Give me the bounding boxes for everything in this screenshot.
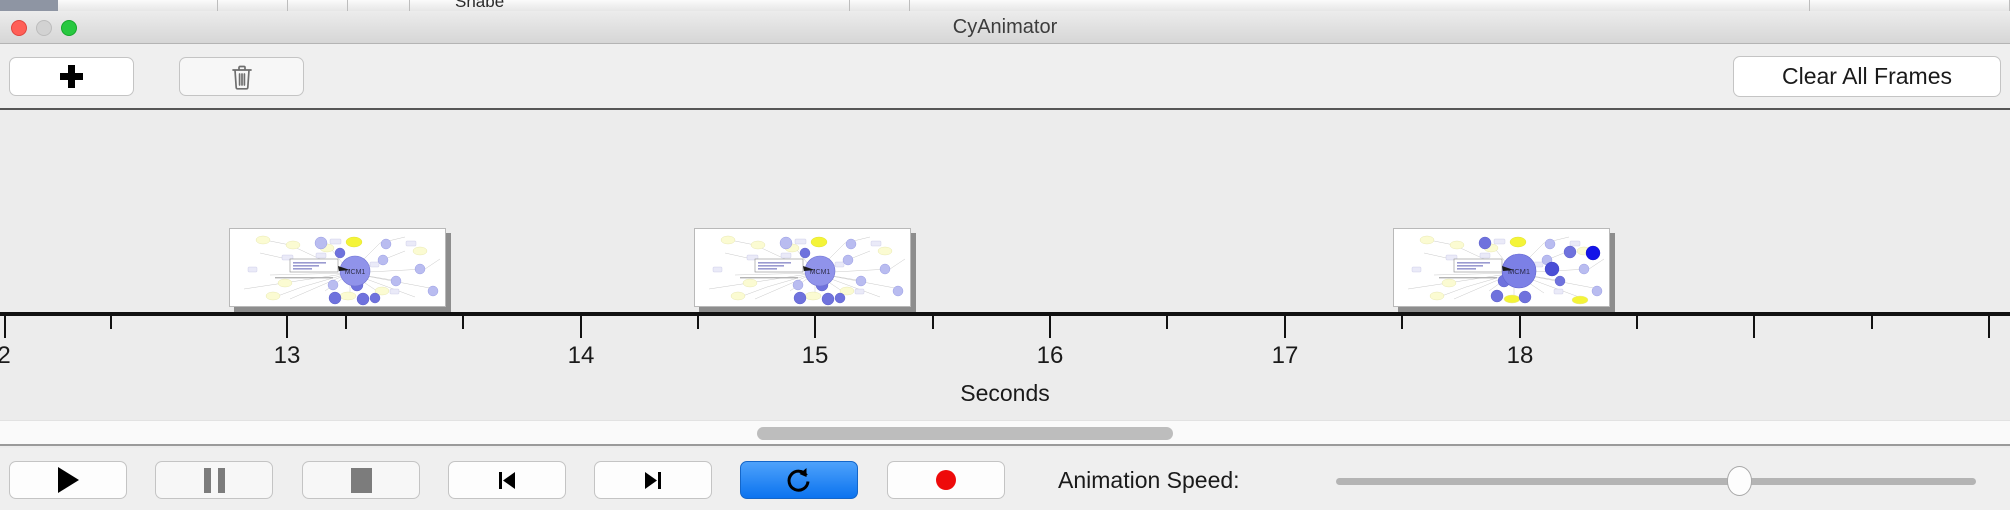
axis-tick-label: 14 — [568, 342, 595, 370]
axis-tick-minor — [1401, 316, 1403, 329]
plus-icon — [60, 65, 83, 88]
axis-title: Seconds — [0, 380, 2010, 407]
background-block — [348, 0, 410, 11]
skip-forward-icon — [640, 467, 666, 493]
title-bar: CyAnimator — [0, 11, 2010, 44]
background-block — [910, 0, 1810, 11]
stop-icon — [351, 468, 372, 493]
background-block — [58, 0, 218, 11]
axis-tick-label: 15 — [802, 342, 829, 370]
axis-tick-minor — [345, 316, 347, 329]
axis-tick-major — [4, 316, 6, 338]
axis-tick-major — [814, 316, 816, 338]
clear-all-frames-label: Clear All Frames — [1782, 63, 1952, 90]
timeline-axis: 2 13 14 15 16 17 18 Seconds — [0, 312, 2010, 420]
background-block — [1810, 0, 2010, 11]
toolbar: Clear All Frames — [0, 44, 2010, 110]
axis-tick-label: 13 — [274, 342, 301, 370]
axis-tick-major — [286, 316, 288, 338]
stop-button[interactable] — [302, 461, 420, 499]
animation-speed-slider-thumb[interactable] — [1727, 466, 1752, 496]
play-icon — [58, 467, 79, 493]
background-block — [218, 0, 288, 11]
skip-to-end-button[interactable] — [594, 461, 712, 499]
timeline-frame[interactable]: MCM1 — [694, 228, 916, 312]
loop-icon — [786, 466, 812, 494]
network-graph-preview: MCM1 — [230, 229, 446, 307]
axis-tick-label: 18 — [1507, 342, 1534, 370]
trash-icon — [231, 64, 253, 90]
background-sidebar-block — [0, 0, 58, 11]
skip-to-start-button[interactable] — [448, 461, 566, 499]
axis-tick-major — [1519, 316, 1521, 338]
clear-all-frames-button[interactable]: Clear All Frames — [1733, 56, 2001, 97]
frame-thumbnail: MCM1 — [1393, 228, 1610, 307]
network-graph-preview: MCM1 — [695, 229, 911, 307]
timeline-panel[interactable]: MCM1 — [0, 112, 2010, 312]
timeline-scrollbar[interactable] — [0, 420, 2010, 446]
loop-button[interactable] — [740, 461, 858, 499]
skip-back-icon — [494, 467, 520, 493]
axis-tick-label: 2 — [0, 342, 11, 370]
axis-tick-label: 17 — [1272, 342, 1299, 370]
animation-speed-slider[interactable] — [1336, 478, 1976, 485]
background-block — [850, 0, 910, 11]
record-icon — [933, 467, 959, 493]
record-button[interactable] — [887, 461, 1005, 499]
axis-tick-minor — [1166, 316, 1168, 329]
axis-line — [0, 312, 2010, 316]
window-title: CyAnimator — [0, 11, 2010, 44]
cyanimator-window: Shape CyAnimator Clear All Frames — [0, 0, 2010, 510]
frame-thumbnail: MCM1 — [694, 228, 911, 307]
frame-thumbnail: MCM1 — [229, 228, 446, 307]
delete-frame-button[interactable] — [179, 57, 304, 96]
axis-tick-major — [1988, 316, 1990, 338]
axis-tick-minor — [110, 316, 112, 329]
axis-tick-minor — [1871, 316, 1873, 329]
background-block — [288, 0, 348, 11]
background-window-strip: Shape — [0, 0, 2010, 11]
pause-button[interactable] — [155, 461, 273, 499]
axis-tick-minor — [697, 316, 699, 329]
add-frame-button[interactable] — [9, 57, 134, 96]
playback-toolbar: Animation Speed: — [0, 448, 2010, 510]
axis-tick-minor — [1636, 316, 1638, 329]
network-graph-preview: MCM1 — [1394, 229, 1610, 307]
pause-icon — [204, 468, 225, 493]
axis-tick-major — [1753, 316, 1755, 338]
animation-speed-label: Animation Speed: — [1058, 462, 1240, 498]
axis-tick-major — [580, 316, 582, 338]
play-button[interactable] — [9, 461, 127, 499]
timeline-frame[interactable]: MCM1 — [229, 228, 451, 312]
timeline-frame[interactable]: MCM1 — [1393, 228, 1615, 312]
svg-text:MCM1: MCM1 — [1508, 267, 1530, 276]
axis-tick-label: 16 — [1037, 342, 1064, 370]
scrollbar-thumb[interactable] — [757, 427, 1173, 440]
axis-tick-major — [1049, 316, 1051, 338]
axis-tick-minor — [462, 316, 464, 329]
axis-tick-major — [1284, 316, 1286, 338]
axis-tick-minor — [932, 316, 934, 329]
background-window-label: Shape — [455, 0, 504, 7]
